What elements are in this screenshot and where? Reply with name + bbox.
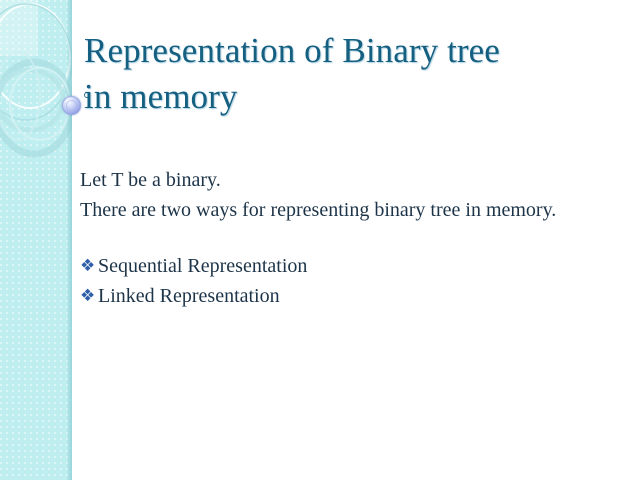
sidebar-edge-seam — [67, 0, 72, 480]
slide-title: Representation of Binary tree in memory — [84, 28, 624, 120]
body-spacer — [80, 226, 580, 252]
slide-canvas: Representation of Binary tree in memory … — [0, 0, 640, 480]
list-item: ❖ Sequential Representation — [80, 252, 580, 280]
diamond-bullet-icon: ❖ — [80, 282, 95, 310]
sidebar-circles-decoration — [0, 0, 72, 480]
sphere-bullet-icon — [62, 96, 81, 115]
representation-bullet-list: ❖ Sequential Representation ❖ Linked Rep… — [80, 252, 580, 310]
body-paragraph-2: There are two ways for representing bina… — [80, 196, 580, 224]
list-item-label: Sequential Representation — [98, 255, 307, 277]
body-paragraph-1: Let T be a binary. — [80, 166, 580, 194]
list-item: ❖ Linked Representation — [80, 282, 580, 310]
list-item-label: Linked Representation — [98, 285, 280, 307]
sphere-inner-ring — [66, 100, 77, 111]
diamond-bullet-icon: ❖ — [80, 252, 95, 280]
decorative-sidebar — [0, 0, 72, 480]
slide-body: Let T be a binary. There are two ways fo… — [80, 166, 580, 312]
